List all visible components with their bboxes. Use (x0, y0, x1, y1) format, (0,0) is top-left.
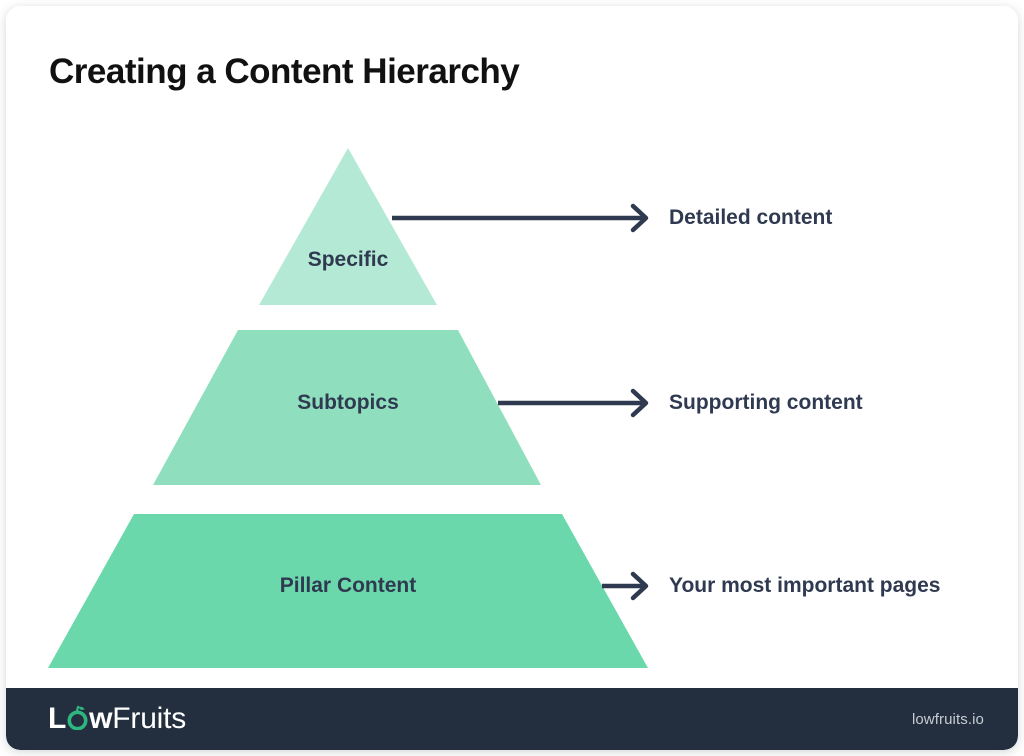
tier-label-specific: Specific (308, 248, 389, 272)
callout-supporting-content: Supporting content (669, 391, 863, 415)
arrow-supporting-content-icon (498, 391, 646, 415)
lowfruits-logo[interactable]: L w Fruits (48, 704, 186, 734)
logo-text-fruits: Fruits (112, 704, 186, 734)
tier-label-pillar-content: Pillar Content (280, 574, 417, 598)
pyramid-tier-specific[interactable] (259, 148, 437, 305)
arrow-detailed-content-icon (392, 206, 646, 230)
apple-o-icon (67, 707, 88, 728)
infographic-card: Creating a Content Hierarchy (6, 6, 1018, 750)
callout-detailed-content: Detailed content (669, 206, 832, 230)
logo-text-l: L (48, 704, 66, 734)
arrow-pillar-content-icon (602, 574, 646, 598)
footer-bar: L w Fruits lowfruits.io (6, 688, 1018, 750)
logo-text-w: w (89, 704, 112, 734)
tier-label-subtopics: Subtopics (297, 391, 399, 415)
callout-pillar-content: Your most important pages (669, 574, 940, 598)
footer-url[interactable]: lowfruits.io (912, 711, 984, 728)
content-hierarchy-pyramid-diagram: Specific Subtopics Pillar Content Detail… (6, 6, 1018, 696)
